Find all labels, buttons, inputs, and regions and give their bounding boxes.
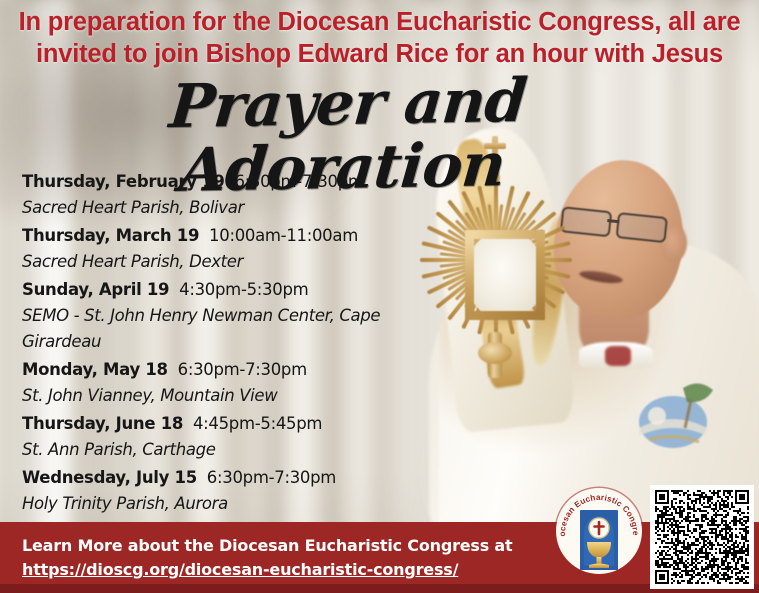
event-date: Sunday, April 19 — [22, 280, 169, 299]
event-date: Wednesday, July 15 — [22, 468, 197, 487]
event-venue: St. Ann Parish, Carthage — [22, 437, 442, 463]
event-item: Wednesday, July 15 6:30pm-7:30pmHoly Tri… — [22, 464, 442, 517]
event-item: Thursday, June 18 4:45pm-5:45pmSt. Ann P… — [22, 410, 442, 463]
event-venue: Sacred Heart Parish, Dexter — [22, 249, 442, 275]
qr-code-image — [655, 490, 749, 584]
event-time: 6:30pm-7:30pm — [225, 172, 364, 191]
event-date: Thursday, June 18 — [22, 414, 183, 433]
event-item: Monday, May 18 6:30pm-7:30pmSt. John Via… — [22, 356, 442, 409]
poster: In preparation for the Diocesan Eucharis… — [0, 0, 759, 593]
event-date: Monday, May 18 — [22, 360, 168, 379]
qr-code[interactable] — [650, 485, 754, 589]
event-item: Thursday, March 19 10:00am-11:00amSacred… — [22, 222, 442, 275]
event-venue: Sacred Heart Parish, Bolivar — [22, 195, 442, 221]
footer-learn-more-text: Learn More about the Diocesan Eucharisti… — [22, 536, 512, 555]
congress-url-link[interactable]: https://dioscg.org/diocesan-eucharistic-… — [22, 558, 582, 582]
event-date: Thursday, February 19 — [22, 172, 225, 191]
event-time: 10:00am-11:00am — [199, 226, 358, 245]
headline-line-2: invited to join Bishop Edward Rice for a… — [0, 38, 759, 70]
event-time: 4:45pm-5:45pm — [183, 414, 322, 433]
event-venue: St. John Vianney, Mountain View — [22, 383, 442, 409]
headline: In preparation for the Diocesan Eucharis… — [0, 6, 759, 70]
event-time: 6:30pm-7:30pm — [168, 360, 307, 379]
diocesan-eucharistic-congress-logo: Diocesan Eucharistic Congress — [556, 488, 642, 588]
event-item: Sunday, April 19 4:30pm-5:30pmSEMO - St.… — [22, 276, 442, 355]
event-schedule: Thursday, February 19 6:30pm-7:30pmSacre… — [22, 168, 442, 518]
footer-bar: Learn More about the Diocesan Eucharisti… — [0, 522, 759, 593]
event-date: Thursday, March 19 — [22, 226, 199, 245]
event-time: 4:30pm-5:30pm — [169, 280, 308, 299]
chalice-and-host-emblem: Diocesan Eucharistic Congress — [556, 488, 642, 574]
headline-line-1: In preparation for the Diocesan Eucharis… — [19, 8, 741, 36]
vestment-crest-icon — [625, 370, 721, 456]
event-venue: SEMO - St. John Henry Newman Center, Cap… — [22, 303, 442, 355]
event-venue: Holy Trinity Parish, Aurora — [22, 491, 442, 517]
event-item: Thursday, February 19 6:30pm-7:30pmSacre… — [22, 168, 442, 221]
event-time: 6:30pm-7:30pm — [197, 468, 336, 487]
footer-bottom-edge — [0, 584, 759, 593]
